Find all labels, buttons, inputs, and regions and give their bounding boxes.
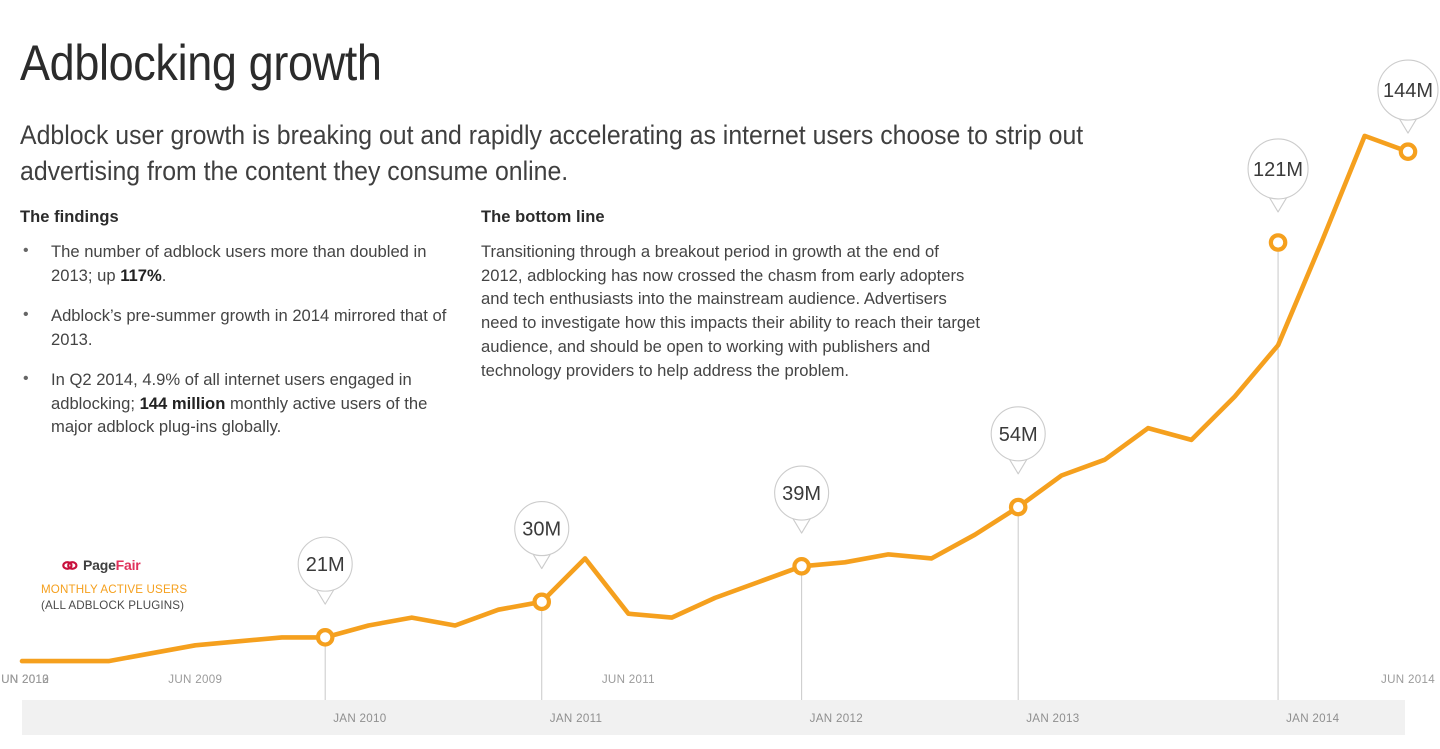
data-point-marker (794, 559, 808, 573)
axis-band (22, 700, 1405, 735)
callout-tail (1009, 459, 1027, 474)
callout-value: 30M (522, 519, 561, 541)
callout-bubble (515, 502, 569, 556)
bullet-text: The number of adblock users more than do… (51, 242, 426, 285)
page-subtitle: Adblock user growth is breaking out and … (20, 117, 1106, 190)
callout-value: 144M (1383, 80, 1433, 102)
findings-bullet: •In Q2 2014, 4.9% of all internet users … (20, 368, 450, 439)
bottom-line-heading: The bottom line (481, 208, 981, 227)
infographic-page: Adblocking growth Adblock user growth is… (0, 0, 1440, 749)
callout-tail (533, 554, 551, 569)
axis-label-jun: JUN 2010 (0, 673, 49, 686)
axis-label-jun: JUN 2014 (1381, 673, 1435, 686)
brand-legend: PageFair MONTHLY ACTIVE USERS (ALL ADBLO… (41, 558, 261, 614)
callout-bubble (991, 407, 1045, 461)
axis-label-jan: JAN 2011 (550, 712, 602, 725)
callout-bubble (1378, 60, 1438, 120)
data-point-marker (535, 595, 549, 609)
callout-tail (1399, 118, 1417, 133)
axis-label-jan: JAN 2010 (333, 712, 386, 725)
axis-label-jun: JUN 2012 (0, 673, 49, 686)
callout-bubble (1248, 139, 1308, 199)
data-point-marker (1011, 500, 1025, 514)
bullet-emphasis: 144 million (140, 394, 226, 413)
bottom-line-column: The bottom line Transitioning through a … (481, 208, 981, 382)
callout-bubble (298, 537, 352, 591)
pagefair-logo: PageFair (62, 558, 261, 572)
axis-band-rect (22, 700, 1405, 735)
callout-value: 121M (1253, 159, 1303, 181)
pagefair-wordmark: PageFair (83, 558, 141, 572)
axis-label-jan: JAN 2012 (810, 712, 863, 725)
brand-name-page: Page (83, 557, 116, 573)
callout-value: 54M (999, 424, 1038, 446)
callout-tail (793, 518, 811, 533)
pagefair-mark-icon (62, 559, 78, 572)
callout-bubble (775, 466, 829, 520)
callout-tail (316, 589, 334, 604)
legend-primary-label: MONTHLY ACTIVE USERS (41, 582, 261, 598)
axis-label-jan: JAN 2014 (1286, 712, 1340, 725)
page-title: Adblocking growth (20, 36, 920, 90)
findings-column: The findings •The number of adblock user… (20, 208, 450, 456)
legend-secondary-label: (ALL ADBLOCK PLUGINS) (41, 598, 261, 614)
bullet-text-tail: . (162, 266, 167, 285)
bullet-dot-icon: • (23, 304, 29, 327)
data-point-marker (318, 630, 332, 644)
findings-bullet: •The number of adblock users more than d… (20, 240, 450, 287)
findings-bullet: •Adblock’s pre-summer growth in 2014 mir… (20, 304, 450, 351)
data-point-marker (1401, 144, 1415, 158)
axis-label-jun: JUN 2009 (168, 673, 222, 686)
axis-labels: JUN 2009JUN 2010JUN 2011JUN 2012JUN 2013… (0, 673, 1435, 725)
axis-label-jun: JUN 2013 (0, 673, 49, 686)
bottom-line-paragraph: Transitioning through a breakout period … (481, 240, 981, 382)
data-point-marker (1271, 235, 1285, 249)
callout-value: 21M (306, 554, 345, 576)
callout-value: 39M (782, 483, 821, 505)
axis-label-jan: JAN 2013 (1026, 712, 1079, 725)
bullet-dot-icon: • (23, 368, 29, 391)
callout-tail (1269, 197, 1287, 212)
bullet-emphasis: 117% (120, 266, 162, 285)
axis-label-jun: JUN 2011 (602, 673, 655, 686)
bullet-text: Adblock’s pre-summer growth in 2014 mirr… (51, 306, 446, 349)
bullet-dot-icon: • (23, 240, 29, 263)
findings-list: •The number of adblock users more than d… (20, 240, 450, 439)
findings-heading: The findings (20, 208, 450, 227)
brand-name-fair: Fair (116, 557, 141, 573)
